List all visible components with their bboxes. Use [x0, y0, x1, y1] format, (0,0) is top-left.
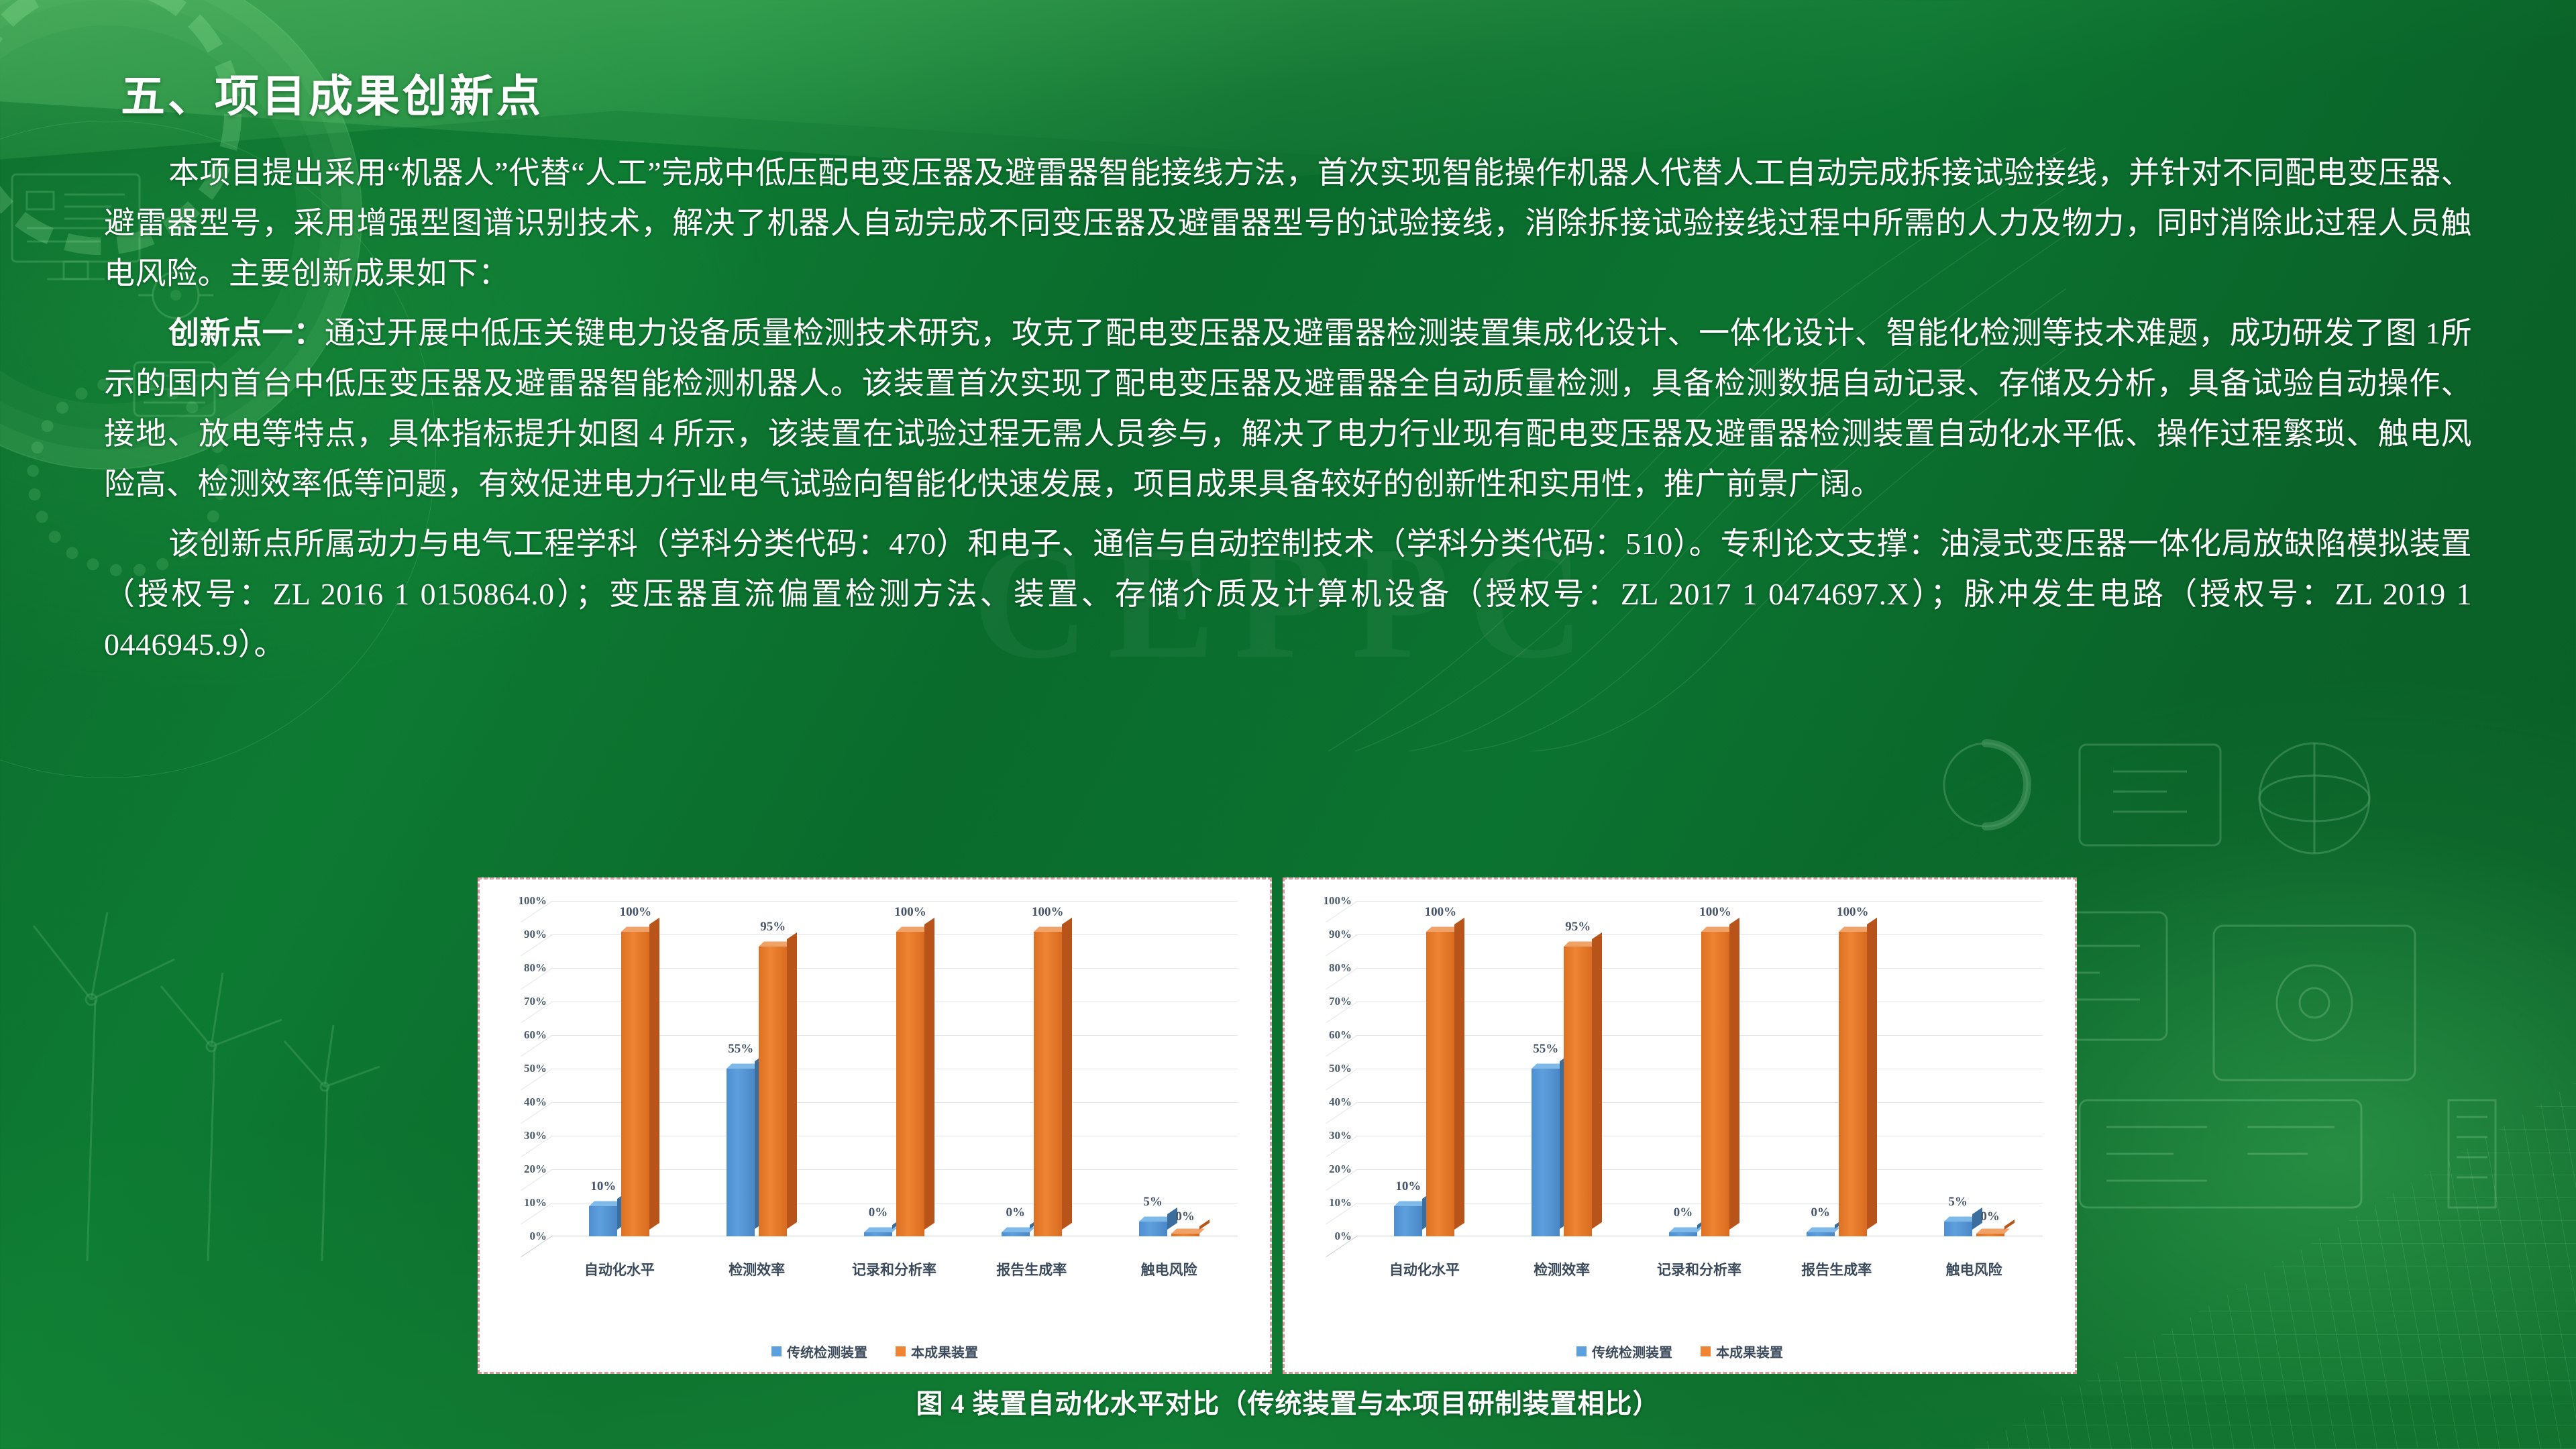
y-axis-right: 100% 90% 80% 70% 60% 50% 40% 30% 20% 10%…	[1294, 901, 1356, 1236]
bar-traditional[interactable]: 55%	[727, 1069, 755, 1236]
bar-result[interactable]: 95%	[759, 947, 787, 1236]
legend-item-result[interactable]: 本成果装置	[896, 1342, 978, 1361]
chart-plot-area-left: 100% 90% 80% 70% 60% 50% 40% 30% 20% 10%…	[489, 886, 1260, 1262]
y-tick-label: 50%	[524, 1062, 547, 1075]
chart-legend-right: 传统检测装置 本成果装置	[1285, 1342, 2075, 1361]
x-tick-label: 报告生成率	[963, 1259, 1100, 1279]
bar-result[interactable]: 95%	[1564, 947, 1592, 1236]
y-tick-label: 100%	[519, 894, 547, 908]
y-tick-label: 90%	[1329, 928, 1352, 941]
body-text-block: 本项目提出采用“机器人”代替“人工”完成中低压配电变压器及避雷器智能接线方法，首…	[104, 148, 2472, 674]
bar-value-label: 10%	[590, 1179, 616, 1194]
y-tick-label: 60%	[524, 1028, 547, 1042]
bar-value-label: 10%	[1395, 1179, 1421, 1194]
y-tick-label: 90%	[524, 928, 547, 941]
paragraph-innovation-one: 创新点一：通过开展中低压关键电力设备质量检测技术研究，攻克了配电变压器及避雷器检…	[104, 308, 2472, 509]
x-tick-label: 触电风险	[1905, 1259, 2043, 1279]
legend-item-traditional[interactable]: 传统检测装置	[771, 1342, 867, 1361]
bar-value-label: 0%	[869, 1205, 888, 1220]
bar-result[interactable]: 100%	[896, 932, 924, 1237]
bar-result[interactable]: 100%	[1839, 932, 1867, 1237]
legend-swatch-icon	[771, 1346, 782, 1356]
x-tick-label: 自动化水平	[1356, 1259, 1493, 1279]
chart-card-right[interactable]: 100% 90% 80% 70% 60% 50% 40% 30% 20% 10%…	[1283, 877, 2077, 1374]
paragraph-discipline-patents: 该创新点所属动力与电气工程学科（学科分类代码：470）和电子、通信与自动控制技术…	[104, 519, 2472, 669]
y-tick-label: 70%	[524, 995, 547, 1008]
bar-group: 0% 100%	[826, 901, 963, 1236]
y-tick-label: 70%	[1329, 995, 1352, 1008]
bar-value-label: 0%	[1980, 1210, 2000, 1224]
x-tick-label: 自动化水平	[551, 1259, 688, 1279]
legend-swatch-icon	[1701, 1346, 1711, 1356]
bar-value-label: 55%	[1533, 1042, 1558, 1057]
bar-traditional[interactable]: 55%	[1532, 1069, 1560, 1236]
y-tick-label: 50%	[1329, 1062, 1352, 1075]
bar-value-label: 100%	[1425, 905, 1457, 920]
chart-bars-left: 10% 100% 55%	[551, 901, 1238, 1236]
bar-value-label: 95%	[760, 920, 786, 934]
paragraph-overview: 本项目提出采用“机器人”代替“人工”完成中低压配电变压器及避雷器智能接线方法，首…	[104, 148, 2472, 299]
x-tick-label: 记录和分析率	[1631, 1259, 1768, 1279]
legend-item-traditional[interactable]: 传统检测装置	[1576, 1342, 1672, 1361]
bar-group: 55% 95%	[1493, 901, 1631, 1236]
legend-swatch-icon	[1576, 1346, 1587, 1356]
bar-result[interactable]: 100%	[1034, 932, 1062, 1237]
bar-group: 5% 0%	[1905, 901, 2043, 1236]
y-axis-left: 100% 90% 80% 70% 60% 50% 40% 30% 20% 10%…	[489, 901, 551, 1236]
bar-traditional[interactable]: 5%	[1944, 1222, 1972, 1237]
x-axis-labels-right: 自动化水平 检测效率 记录和分析率 报告生成率 触电风险	[1356, 1259, 2043, 1279]
legend-label: 本成果装置	[1716, 1342, 1783, 1361]
legend-swatch-icon	[896, 1346, 906, 1356]
bar-group: 0% 100%	[963, 901, 1100, 1236]
y-tick-label: 10%	[524, 1196, 547, 1210]
x-tick-label: 记录和分析率	[826, 1259, 963, 1279]
x-tick-label: 检测效率	[688, 1259, 826, 1279]
x-tick-label: 触电风险	[1100, 1259, 1238, 1279]
bar-value-label: 0%	[1006, 1205, 1026, 1220]
legend-label: 传统检测装置	[1592, 1342, 1672, 1361]
bar-result[interactable]: 100%	[621, 932, 649, 1237]
y-tick-label: 20%	[524, 1163, 547, 1176]
bar-group: 10% 100%	[551, 901, 688, 1236]
bar-traditional[interactable]: 0%	[864, 1232, 892, 1236]
y-tick-label: 80%	[1329, 961, 1352, 975]
innovation-one-keyword: 创新点一：	[168, 316, 325, 350]
y-tick-label: 30%	[1329, 1129, 1352, 1142]
y-tick-label: 100%	[1324, 894, 1352, 908]
bar-value-label: 5%	[1948, 1195, 1968, 1210]
bar-traditional[interactable]: 0%	[1002, 1232, 1030, 1236]
bar-value-label: 0%	[1674, 1205, 1693, 1220]
figure-charts-row: 100% 90% 80% 70% 60% 50% 40% 30% 20% 10%…	[478, 877, 2077, 1374]
legend-label: 传统检测装置	[787, 1342, 867, 1361]
bar-traditional[interactable]: 10%	[589, 1206, 617, 1237]
bar-group: 10% 100%	[1356, 901, 1493, 1236]
y-tick-label: 10%	[1329, 1196, 1352, 1210]
bar-result[interactable]: 0%	[1171, 1234, 1199, 1237]
figure-caption: 图 4 装置自动化水平对比（传统装置与本项目研制装置相比）	[0, 1382, 2576, 1421]
bar-group: 0% 100%	[1631, 901, 1768, 1236]
bar-value-label: 100%	[1837, 905, 1869, 920]
x-axis-labels-left: 自动化水平 检测效率 记录和分析率 报告生成率 触电风险	[551, 1259, 1238, 1279]
legend-item-result[interactable]: 本成果装置	[1701, 1342, 1783, 1361]
y-tick-label: 60%	[1329, 1028, 1352, 1042]
innovation-one-text: 通过开展中低压关键电力设备质量检测技术研究，攻克了配电变压器及避雷器检测装置集成…	[104, 316, 2472, 501]
bar-value-label: 95%	[1565, 920, 1591, 934]
bar-group: 55% 95%	[688, 901, 826, 1236]
chart-plot-area-right: 100% 90% 80% 70% 60% 50% 40% 30% 20% 10%…	[1294, 886, 2065, 1262]
bar-group: 5% 0%	[1100, 901, 1238, 1236]
bar-value-label: 0%	[1175, 1210, 1195, 1224]
bar-traditional[interactable]: 10%	[1394, 1206, 1422, 1237]
bar-value-label: 55%	[728, 1042, 753, 1057]
bar-value-label: 0%	[1811, 1205, 1831, 1220]
y-tick-label: 40%	[1329, 1095, 1352, 1109]
bar-traditional[interactable]: 0%	[1807, 1232, 1835, 1236]
bar-value-label: 100%	[894, 905, 926, 920]
y-tick-label: 30%	[524, 1129, 547, 1142]
chart-bars-right: 10% 100% 55%	[1356, 901, 2043, 1236]
x-tick-label: 报告生成率	[1768, 1259, 1905, 1279]
bar-value-label: 100%	[1032, 905, 1064, 920]
bar-group: 0% 100%	[1768, 901, 1905, 1236]
bar-result[interactable]: 0%	[1976, 1234, 2004, 1237]
slide-content: 五、项目成果创新点 本项目提出采用“机器人”代替“人工”完成中低压配电变压器及避…	[0, 0, 2576, 1449]
bar-value-label: 100%	[620, 905, 652, 920]
legend-label: 本成果装置	[911, 1342, 978, 1361]
bar-traditional[interactable]: 5%	[1139, 1222, 1167, 1237]
x-tick-label: 检测效率	[1493, 1259, 1631, 1279]
y-tick-label: 40%	[524, 1095, 547, 1109]
bar-traditional[interactable]: 0%	[1669, 1232, 1697, 1236]
page-title: 五、项目成果创新点	[121, 60, 543, 125]
y-tick-label: 80%	[524, 961, 547, 975]
chart-legend-left: 传统检测装置 本成果装置	[480, 1342, 1270, 1361]
bar-result[interactable]: 100%	[1426, 932, 1454, 1237]
y-tick-label: 20%	[1329, 1163, 1352, 1176]
chart-card-left[interactable]: 100% 90% 80% 70% 60% 50% 40% 30% 20% 10%…	[478, 877, 1272, 1374]
bar-value-label: 5%	[1143, 1195, 1163, 1210]
bar-value-label: 100%	[1699, 905, 1731, 920]
bar-result[interactable]: 100%	[1701, 932, 1729, 1237]
